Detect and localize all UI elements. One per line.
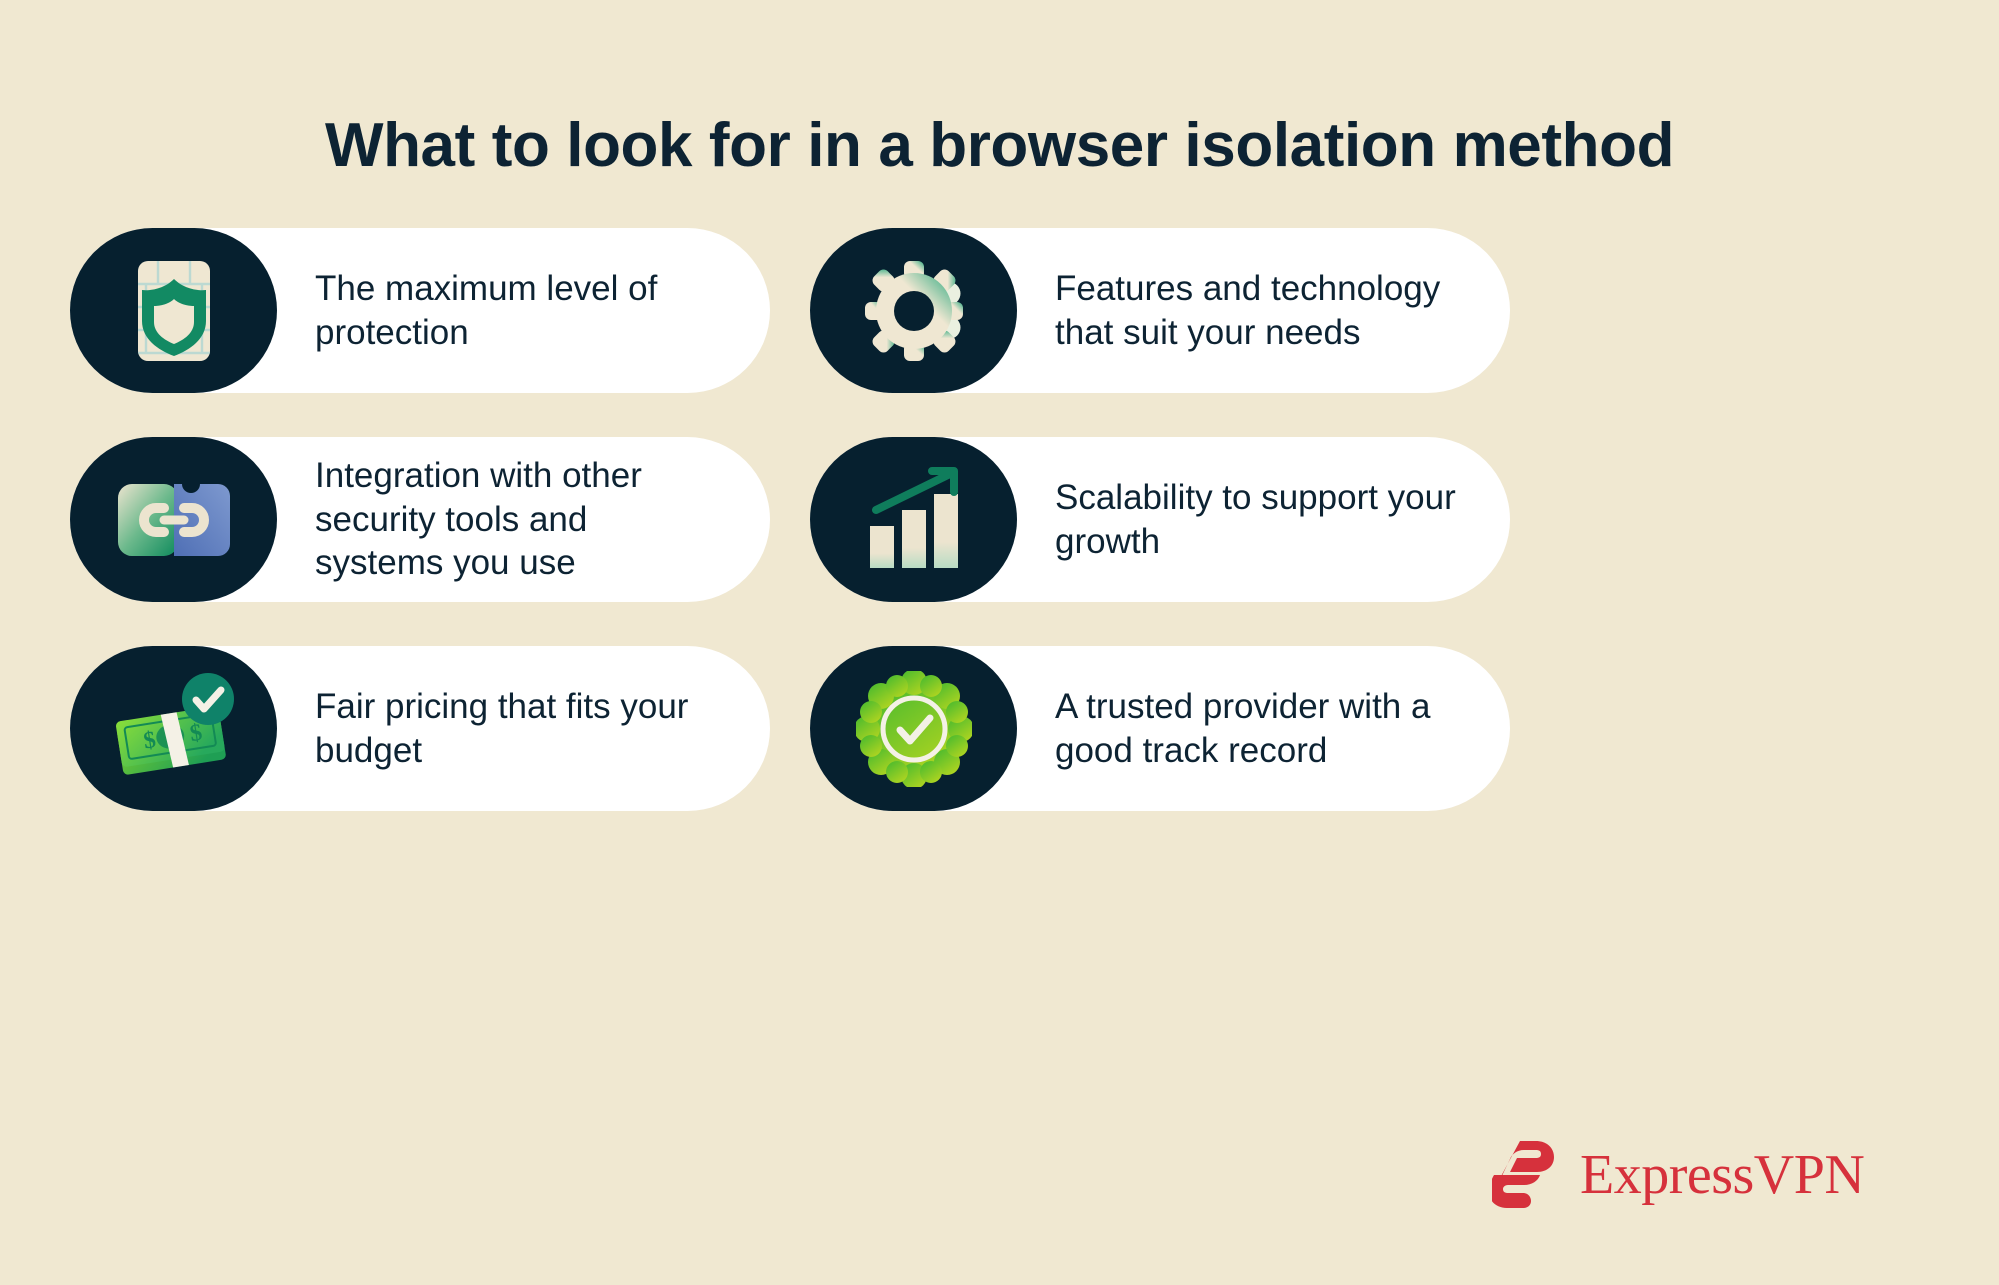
feature-card-scalability[interactable]: Scalability to support your growth (810, 437, 1510, 602)
feature-card-label: The maximum level of protection (277, 267, 770, 355)
growth-bar-chart-icon (810, 437, 1017, 602)
expressvpn-wordmark: ExpressVPN (1580, 1147, 1864, 1203)
feature-card-trusted-provider[interactable]: A trusted provider with a good track rec… (810, 646, 1510, 811)
feature-card-label: A trusted provider with a good track rec… (1017, 685, 1510, 773)
feature-card-label: Fair pricing that fits your budget (277, 685, 770, 773)
firewall-shield-icon (70, 228, 277, 393)
expressvpn-logo: ExpressVPN (1492, 1135, 1864, 1214)
money-cash-check-icon: $ $ (70, 646, 277, 811)
feature-card-grid: The maximum level of protection (70, 228, 1930, 811)
chain-link-integration-icon (70, 437, 277, 602)
feature-card-integration[interactable]: Integration with other security tools an… (70, 437, 770, 602)
infographic-page: What to look for in a browser isolation … (0, 0, 1999, 1285)
feature-card-maximum-protection[interactable]: The maximum level of protection (70, 228, 770, 393)
feature-card-fair-pricing[interactable]: $ $ Fair pricing that fits your budget (70, 646, 770, 811)
feature-card-features-technology[interactable]: Features and technology that suit your n… (810, 228, 1510, 393)
gear-settings-icon (810, 228, 1017, 393)
feature-card-label: Integration with other security tools an… (277, 454, 770, 585)
expressvpn-e-mark-icon (1492, 1135, 1566, 1214)
page-title: What to look for in a browser isolation … (0, 112, 1999, 180)
feature-card-label: Features and technology that suit your n… (1017, 267, 1510, 355)
feature-card-label: Scalability to support your growth (1017, 476, 1510, 564)
verified-badge-icon (810, 646, 1017, 811)
